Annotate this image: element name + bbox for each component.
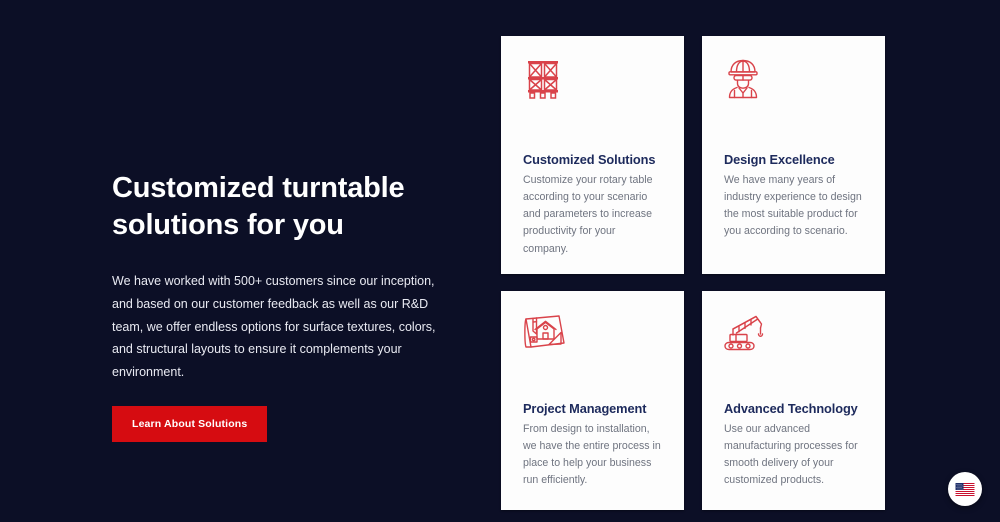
hero-panel: Customized turntable solutions for you W… [112,170,462,442]
feature-card-advanced-technology[interactable]: Advanced Technology Use our advanced man… [702,291,885,510]
scaffolding-icon [523,58,662,142]
locale-selector-button[interactable] [948,472,982,506]
card-title: Advanced Technology [724,401,863,416]
us-flag-icon [955,483,975,496]
feature-card-design-excellence[interactable]: Design Excellence We have many years of … [702,36,885,274]
card-title: Design Excellence [724,152,863,167]
card-description: We have many years of industry experienc… [724,172,863,241]
feature-card-project-management[interactable]: Project Management From design to instal… [501,291,684,510]
card-title: Customized Solutions [523,152,662,167]
feature-card-customized-solutions[interactable]: Customized Solutions Customize your rota… [501,36,684,274]
card-description: From design to installation, we have the… [523,421,662,490]
learn-about-solutions-button[interactable]: Learn About Solutions [112,406,267,442]
hero-description: We have worked with 500+ customers since… [112,270,450,384]
card-description: Use our advanced manufacturing processes… [724,421,863,490]
blueprint-icon [523,313,662,391]
crawler-crane-icon [724,313,863,391]
page-title: Customized turntable solutions for you [112,170,412,244]
construction-worker-icon [724,58,863,142]
page-root: Customized turntable solutions for you W… [0,0,1000,522]
card-title: Project Management [523,401,662,416]
card-description: Customize your rotary table according to… [523,172,662,258]
feature-card-grid: Customized Solutions Customize your rota… [501,36,885,510]
